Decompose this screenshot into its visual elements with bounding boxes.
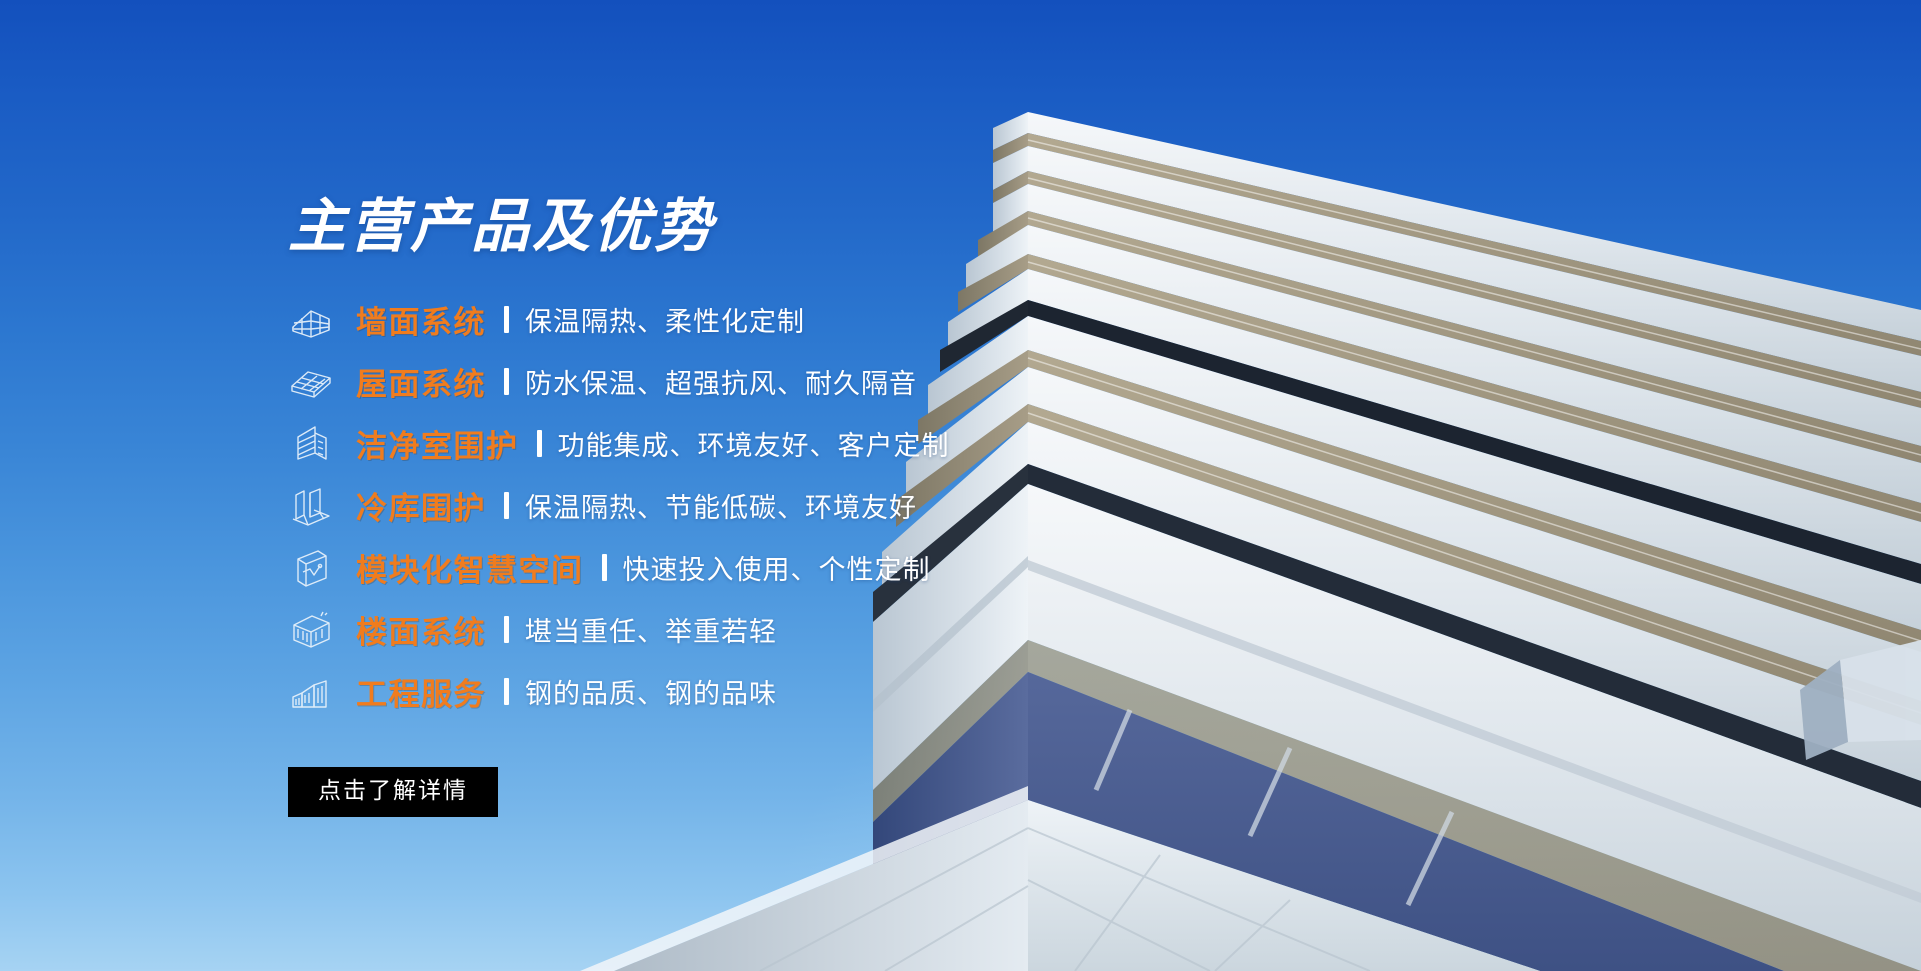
row-separator	[504, 678, 509, 705]
row-separator	[602, 554, 607, 581]
product-row-engineering-service[interactable]: 工程服务 钢的品质、钢的品味	[288, 661, 1408, 723]
cold-storage-envelope-icon	[288, 483, 334, 529]
product-row-modular-smart-space[interactable]: 模块化智慧空间 快速投入使用、个性定制	[288, 537, 1408, 599]
product-name: 屋面系统	[356, 359, 486, 404]
product-desc: 堪当重任、举重若轻	[525, 610, 777, 649]
product-row-roof-system[interactable]: 屋面系统 防水保温、超强抗风、耐久隔音	[288, 351, 1408, 413]
hero-content: 主营产品及优势 墙面系统 保温隔热、柔性化定制	[288, 196, 1408, 817]
row-separator	[504, 368, 509, 395]
roof-system-icon	[288, 359, 334, 405]
page-title: 主营产品及优势	[288, 196, 1408, 257]
floor-system-icon	[288, 607, 334, 653]
learn-more-button[interactable]: 点击了解详情	[288, 767, 498, 817]
row-separator	[537, 430, 542, 457]
row-separator	[504, 492, 509, 519]
product-row-cleanroom-envelope[interactable]: 洁净室围护 功能集成、环境友好、客户定制	[288, 413, 1408, 475]
product-name: 墙面系统	[356, 297, 486, 342]
product-name: 洁净室围护	[356, 421, 519, 466]
wall-system-icon	[288, 297, 334, 343]
product-name: 模块化智慧空间	[356, 545, 584, 590]
banner-hero: 主营产品及优势 墙面系统 保温隔热、柔性化定制	[0, 0, 1921, 971]
row-separator	[504, 306, 509, 333]
product-desc: 功能集成、环境友好、客户定制	[558, 424, 950, 463]
product-row-floor-system[interactable]: 楼面系统 堪当重任、举重若轻	[288, 599, 1408, 661]
product-desc: 保温隔热、节能低碳、环境友好	[525, 486, 917, 525]
product-desc: 保温隔热、柔性化定制	[525, 300, 805, 339]
cleanroom-envelope-icon	[288, 421, 334, 467]
product-name: 楼面系统	[356, 607, 486, 652]
product-desc: 快速投入使用、个性定制	[623, 548, 931, 587]
engineering-service-icon	[288, 669, 334, 715]
row-separator	[504, 616, 509, 643]
modular-smart-space-icon	[288, 545, 334, 591]
product-name: 工程服务	[356, 669, 486, 714]
product-desc: 防水保温、超强抗风、耐久隔音	[525, 362, 917, 401]
product-name: 冷库围护	[356, 483, 486, 528]
product-desc: 钢的品质、钢的品味	[525, 672, 777, 711]
product-row-cold-storage-envelope[interactable]: 冷库围护 保温隔热、节能低碳、环境友好	[288, 475, 1408, 537]
product-row-wall-system[interactable]: 墙面系统 保温隔热、柔性化定制	[288, 289, 1408, 351]
product-list: 墙面系统 保温隔热、柔性化定制 屋面系统 防水保温、超强抗风、	[288, 289, 1408, 723]
